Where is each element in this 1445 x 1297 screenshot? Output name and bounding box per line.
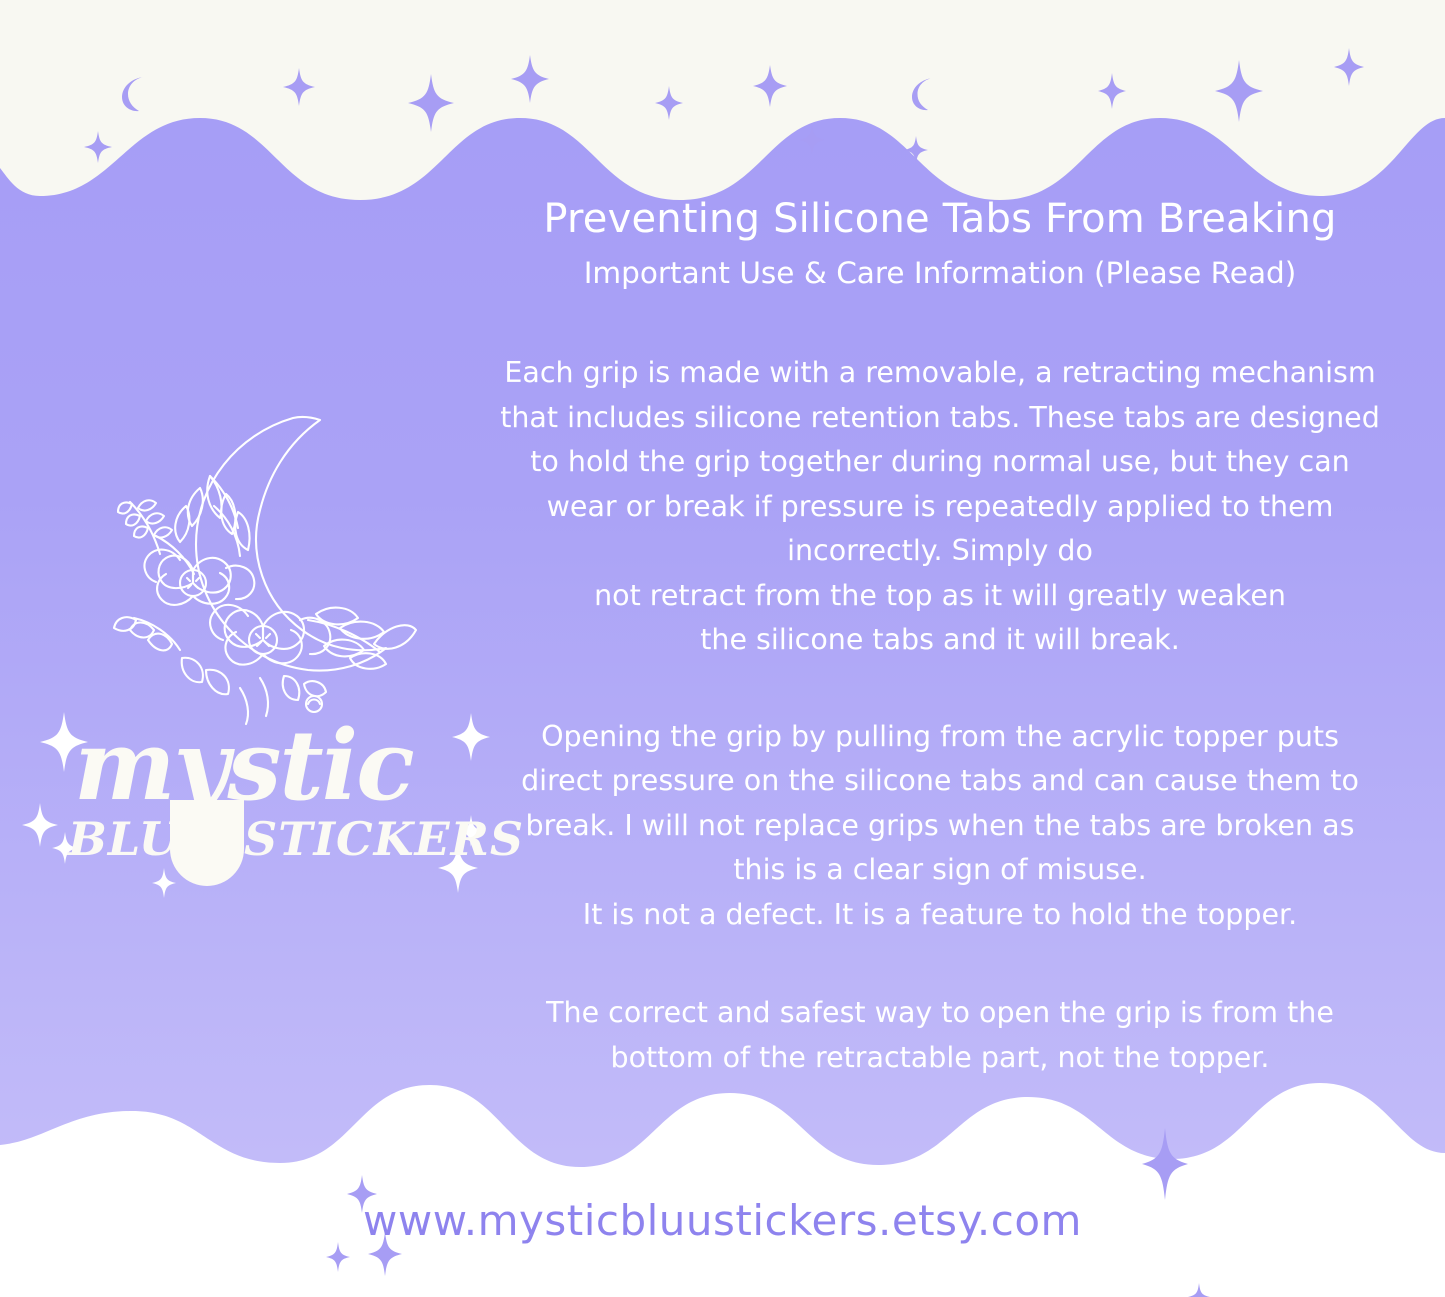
floral-crescent-moon-icon [88,408,418,728]
crescent-moon-icon [118,75,152,113]
sparkle-icon [283,68,315,106]
sparkle-icon [1098,73,1126,109]
main-content: Preventing Silicone Tabs From Breaking I… [460,196,1420,1080]
body-paragraph-1: Each grip is made with a removable, a re… [460,351,1420,663]
crescent-moon-icon [908,76,940,112]
website-url[interactable]: www.mysticbluustickers.etsy.com [0,1196,1445,1245]
sparkle-icon [1142,1128,1188,1200]
sparkle-icon [655,86,683,120]
sparkle-icon [408,74,454,132]
sparkle-icon [799,125,825,155]
sparkle-icon [84,131,112,163]
sparkle-icon [753,65,787,107]
sparkle-icon [1188,1283,1210,1297]
sparkle-icon [511,55,549,103]
page-subtitle: Important Use & Care Information (Please… [460,256,1420,291]
brand-name-secondary-left: BLUU [68,816,221,862]
bottom-cloud-border [0,1067,1445,1297]
sparkle-icon [326,1242,350,1272]
flyer-card: mystic BLUU STICKERS Preventing Silicone… [0,0,1445,1297]
body-paragraph-3: The correct and safest way to open the g… [460,991,1420,1080]
brand-logo: mystic BLUU STICKERS [22,700,492,890]
sparkle-icon [1334,48,1364,86]
sparkle-icon [1215,60,1263,122]
page-title: Preventing Silicone Tabs From Breaking [460,196,1420,242]
body-paragraph-2: Opening the grip by pulling from the acr… [460,715,1420,938]
brand-name-primary: mystic [74,718,413,814]
sparkle-icon [904,136,928,164]
